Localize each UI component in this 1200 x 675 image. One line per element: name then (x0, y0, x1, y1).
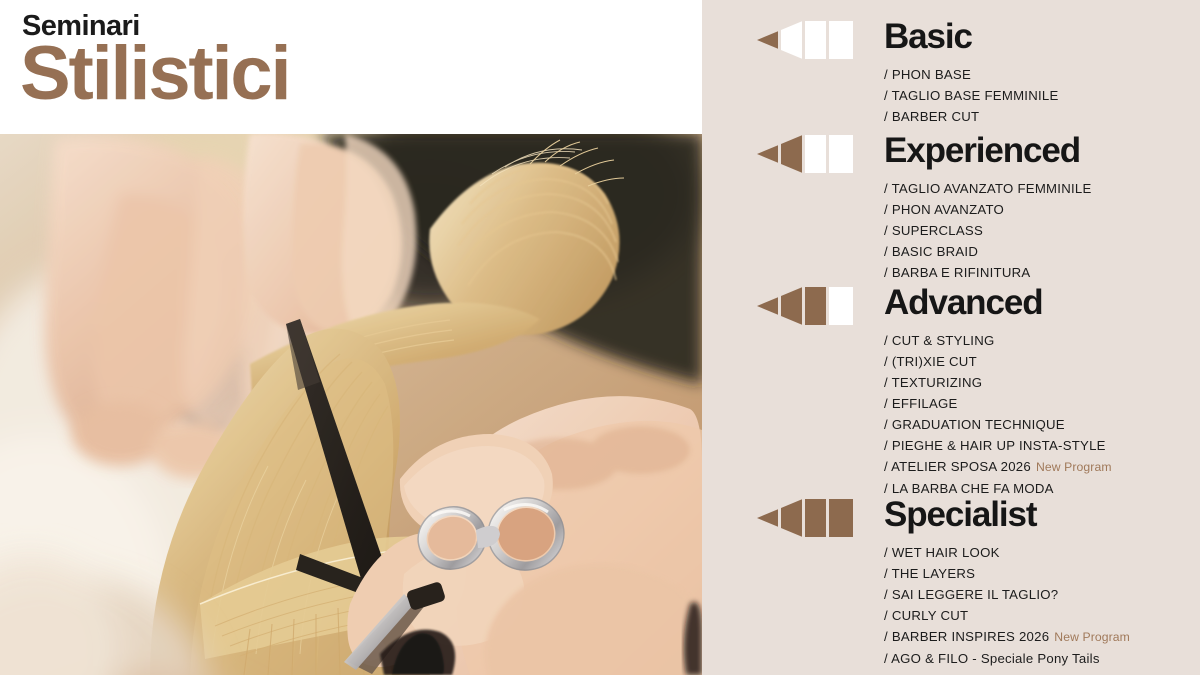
new-program-badge: New Program (1054, 630, 1130, 644)
level-arrow-icon (757, 287, 853, 325)
level-arrow-icon (757, 499, 853, 537)
section-title-basic: Basic (884, 18, 972, 57)
salon-haircut-photo-icon (0, 134, 702, 675)
list-item[interactable]: / BARBER CUT (884, 106, 1059, 127)
list-item[interactable]: / BASIC BRAID (884, 241, 1092, 262)
seminars-slide: Seminari Stilistici Basic / PHON BASE / … (0, 0, 1200, 675)
title-panel: Seminari Stilistici (0, 0, 702, 134)
list-item[interactable]: / TAGLIO BASE FEMMINILE (884, 85, 1059, 106)
left-column: Seminari Stilistici (0, 0, 702, 675)
list-item[interactable]: / BARBER INSPIRES 2026New Program (884, 626, 1130, 648)
list-item[interactable]: / GRADUATION TECHNIQUE (884, 414, 1112, 435)
list-item[interactable]: / ATELIER SPOSA 2026New Program (884, 456, 1112, 478)
list-item[interactable]: / EFFILAGE (884, 393, 1112, 414)
page-title: Stilistici (20, 36, 289, 112)
section-title-experienced: Experienced (884, 132, 1080, 171)
list-item[interactable]: / SUPERCLASS (884, 220, 1092, 241)
list-item[interactable]: / THE LAYERS (884, 563, 1130, 584)
levels-panel: Basic / PHON BASE / TAGLIO BASE FEMMINIL… (702, 0, 1200, 675)
section-list-specialist: / WET HAIR LOOK / THE LAYERS / SAI LEGGE… (884, 542, 1130, 669)
list-item[interactable]: / CUT & STYLING (884, 330, 1112, 351)
list-item[interactable]: / SAI LEGGERE IL TAGLIO? (884, 584, 1130, 605)
list-item[interactable]: / PIEGHE & HAIR UP INSTA-STYLE (884, 435, 1112, 456)
list-item[interactable]: / WET HAIR LOOK (884, 542, 1130, 563)
list-item[interactable]: / PHON AVANZATO (884, 199, 1092, 220)
salon-photo (0, 134, 702, 675)
section-list-experienced: / TAGLIO AVANZATO FEMMINILE / PHON AVANZ… (884, 178, 1092, 283)
list-item[interactable]: / (TRI)XIE CUT (884, 351, 1112, 372)
level-arrow-icon (757, 135, 853, 173)
list-item[interactable]: / TEXTURIZING (884, 372, 1112, 393)
new-program-badge: New Program (1036, 460, 1112, 474)
list-item[interactable]: / PHON BASE (884, 64, 1059, 85)
section-title-advanced: Advanced (884, 284, 1042, 323)
level-arrow-icon (757, 21, 853, 59)
section-list-basic: / PHON BASE / TAGLIO BASE FEMMINILE / BA… (884, 64, 1059, 127)
list-item[interactable]: / TAGLIO AVANZATO FEMMINILE (884, 178, 1092, 199)
list-item[interactable]: / AGO & FILO - Speciale Pony Tails (884, 648, 1130, 669)
section-title-specialist: Specialist (884, 496, 1036, 535)
list-item[interactable]: / CURLY CUT (884, 605, 1130, 626)
list-item[interactable]: / BARBA E RIFINITURA (884, 262, 1092, 283)
section-list-advanced: / CUT & STYLING / (TRI)XIE CUT / TEXTURI… (884, 330, 1112, 499)
